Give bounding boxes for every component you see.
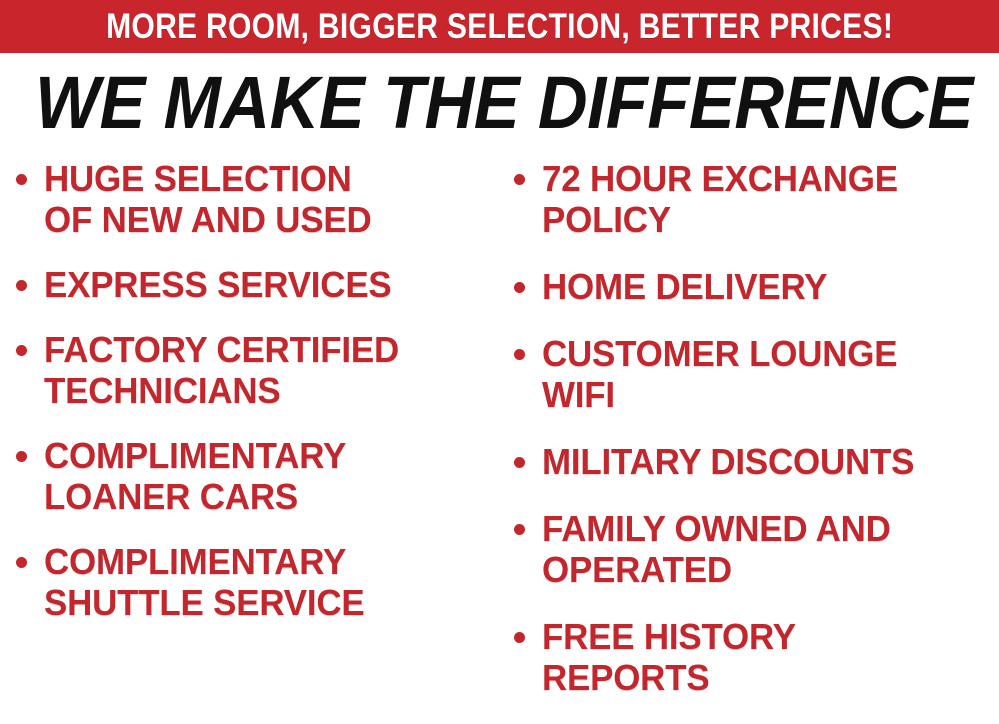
list-item: HUGE SELECTION OF NEW AND USED: [16, 158, 506, 240]
features-column-right: 72 HOUR EXCHANGE POLICY HOME DELIVERY CU…: [506, 158, 999, 724]
dot-bullet-icon: [16, 557, 27, 568]
dot-bullet-icon: [514, 632, 525, 643]
list-item-label: EXPRESS SERVICES: [44, 264, 492, 305]
promo-banner: MORE ROOM, BIGGER SELECTION, BETTER PRIC…: [0, 0, 999, 692]
list-item: COMPLIMENTARY LOANER CARS: [16, 435, 506, 517]
list-item: FACTORY CERTIFIED TECHNICIANS: [16, 329, 506, 411]
list-item-label: COMPLIMENTARY SHUTTLE SERVICE: [44, 541, 492, 623]
list-item-label: FREE HISTORY REPORTS: [542, 616, 985, 698]
list-item-label: FACTORY CERTIFIED TECHNICIANS: [44, 329, 492, 411]
list-item: HOME DELIVERY: [514, 266, 999, 307]
dot-bullet-icon: [16, 345, 27, 356]
list-item-label: CUSTOMER LOUNGE WIFI: [542, 333, 985, 415]
list-item-label: COMPLIMENTARY LOANER CARS: [44, 435, 492, 517]
dot-bullet-icon: [514, 457, 525, 468]
list-item-label: MILITARY DISCOUNTS: [542, 441, 985, 482]
dot-bullet-icon: [16, 174, 27, 185]
list-item: CUSTOMER LOUNGE WIFI: [514, 333, 999, 415]
list-item: FREE HISTORY REPORTS: [514, 616, 999, 698]
dot-bullet-icon: [16, 451, 27, 462]
dot-bullet-icon: [514, 174, 525, 185]
list-item-label: HUGE SELECTION OF NEW AND USED: [44, 158, 492, 240]
features-column-left: HUGE SELECTION OF NEW AND USED EXPRESS S…: [0, 158, 506, 647]
list-item-label: HOME DELIVERY: [542, 266, 985, 307]
list-item: FAMILY OWNED AND OPERATED: [514, 508, 999, 590]
dot-bullet-icon: [514, 524, 525, 535]
top-promo-strip: MORE ROOM, BIGGER SELECTION, BETTER PRIC…: [0, 0, 999, 53]
dot-bullet-icon: [514, 349, 525, 360]
top-promo-strip-text: MORE ROOM, BIGGER SELECTION, BETTER PRIC…: [106, 9, 893, 44]
list-item-label: FAMILY OWNED AND OPERATED: [542, 508, 985, 590]
dot-bullet-icon: [16, 280, 27, 291]
dot-bullet-icon: [514, 282, 525, 293]
list-item: MILITARY DISCOUNTS: [514, 441, 999, 482]
features-columns: HUGE SELECTION OF NEW AND USED EXPRESS S…: [0, 158, 999, 692]
list-item: EXPRESS SERVICES: [16, 264, 506, 305]
page-title: WE MAKE THE DIFFERENCE: [35, 66, 964, 140]
list-item: 72 HOUR EXCHANGE POLICY: [514, 158, 999, 240]
list-item: COMPLIMENTARY SHUTTLE SERVICE: [16, 541, 506, 623]
list-item-label: 72 HOUR EXCHANGE POLICY: [542, 158, 985, 240]
